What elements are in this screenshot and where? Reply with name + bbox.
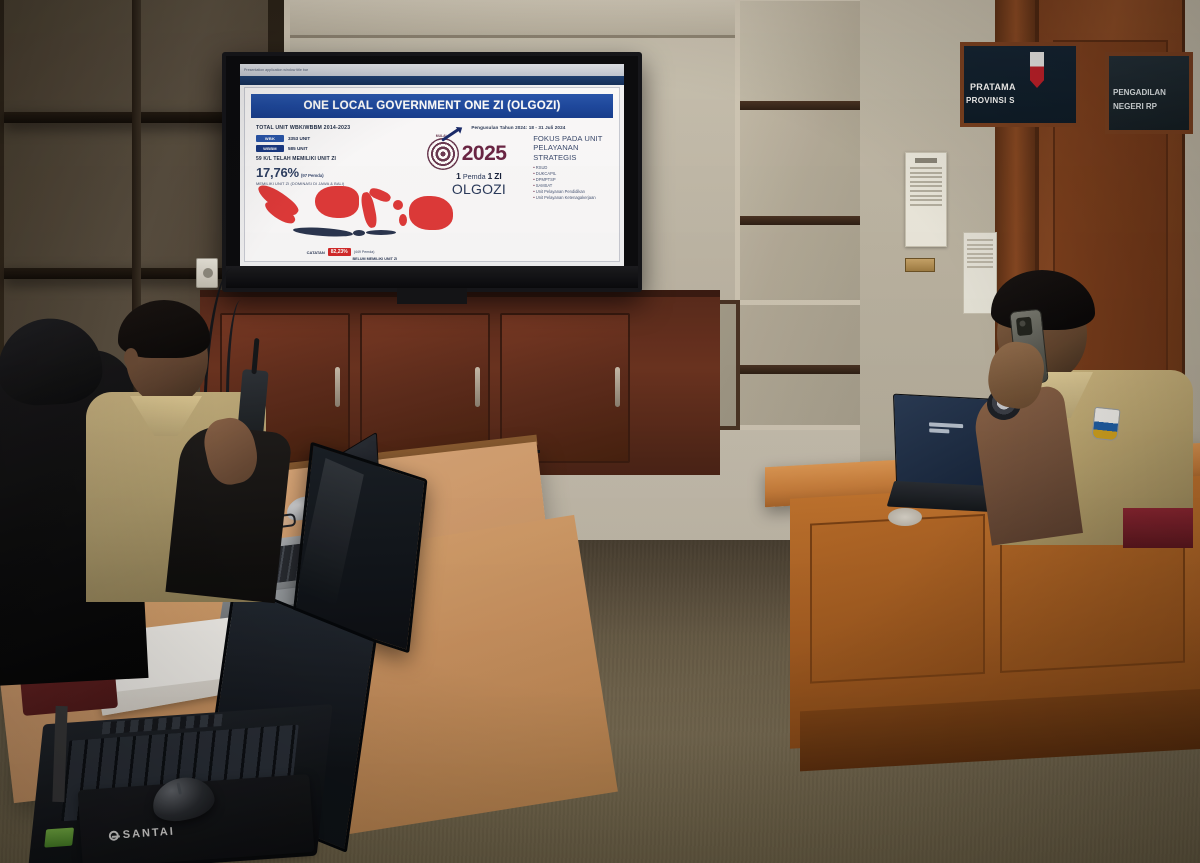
banner-line-1: PRATAMA [970, 82, 1016, 92]
focus-block: FOKUS PADA UNIT PELAYANAN STRATEGIS RSUD… [531, 134, 610, 202]
focus-list: RSUD DUKCAPIL DPMPTSP SAMSAT Unit Pelaya… [533, 165, 610, 202]
tagline-one-pemda-one-zi: 1 Pemda 1 ZI [427, 171, 531, 181]
notice-header-bar [915, 158, 937, 163]
slide-right-main: MULAI 2025 1 Pemda [427, 134, 610, 202]
person-right-phone [975, 272, 1190, 542]
laptop-lid-sticker [929, 420, 964, 438]
cabinet-handle[interactable] [615, 367, 620, 407]
cabinet-handle[interactable] [335, 367, 340, 407]
laptop-brand-sticker [44, 827, 74, 847]
map-island-maluku-2 [399, 214, 407, 226]
notice-text-line [910, 181, 942, 183]
desk-front-panel-section [810, 514, 985, 684]
map-island-kalimantan [315, 186, 359, 218]
footnote-tail: (449 Pemda) [354, 250, 375, 254]
footnote-sub: BELUM MEMILIKI UNIT ZI [352, 257, 397, 261]
legend-chip-wbk: WBK [256, 135, 284, 142]
glass-window-text-1: PENGADILAN [1113, 88, 1166, 97]
tv-mount [397, 288, 467, 304]
notice-text-line [967, 253, 993, 255]
map-island-nusa-tenggara [366, 230, 396, 235]
glass-window-text-2: NEGERI RP [1113, 102, 1157, 111]
cabinet-handle[interactable] [475, 367, 480, 407]
person-ear [124, 348, 138, 368]
mousepad-brand-text: SANTAI [122, 826, 175, 842]
slide-footnote: CATATAN 82,23% (449 Pemda) BELUM MEMILIK… [307, 248, 422, 256]
person-left-radio [78, 300, 288, 600]
slide-left-column: TOTAL UNIT WBK/WBBM 2014-2023 WBK 3353 U… [251, 120, 425, 257]
glass-window-right: PENGADILAN NEGERI RP [1105, 52, 1193, 134]
notice-text-line [910, 185, 942, 187]
tv-bezel-bottom [226, 266, 638, 288]
notice-text-line [910, 172, 942, 174]
phone-camera-icon [1016, 317, 1033, 336]
notice-text-line [910, 204, 942, 206]
tv-screen[interactable]: Presentation application window title ba… [240, 64, 624, 266]
legend-chip-wbbm: WBBM [256, 145, 284, 152]
person-undershirt [1123, 508, 1193, 548]
desk-coaster [888, 508, 922, 526]
dartboard-target-icon [427, 138, 459, 170]
slide-title: ONE LOCAL GOVERNMENT ONE ZI (OLGOZI) [251, 94, 613, 118]
total-unit-heading: TOTAL UNIT WBK/WBBM 2014-2023 [256, 125, 423, 131]
tagline-num: 1 [488, 171, 493, 181]
app-titlebar-text: Presentation application window title ba… [244, 68, 308, 72]
legend-value-wbk: 3353 UNIT [288, 136, 310, 141]
presentation-app-ribbon [240, 76, 624, 85]
presentation-app-titlebar: Presentation application window title ba… [240, 64, 624, 76]
map-island-bali [353, 230, 365, 236]
glass-window-left: PRATAMA PROVINSI S [960, 42, 1080, 127]
mousepad-logo: SANTAI [108, 826, 175, 843]
tagline-prefix: 1 [456, 171, 461, 181]
map-island-maluku [393, 200, 403, 210]
legend-row-wbk: WBK 3353 UNIT [256, 135, 423, 142]
banner-line-2: PROVINSI S [966, 96, 1015, 105]
notice-text-line [967, 248, 993, 250]
notice-text-line [910, 199, 942, 201]
kl-subheading: 59 K/L TELAH MEMILIKI UNIT ZI [256, 156, 423, 162]
footnote-percent: 82,23% [328, 248, 351, 256]
notice-text-line [910, 195, 942, 197]
sticker-line [929, 428, 950, 433]
notice-text-line [910, 167, 942, 169]
notice-text-line [967, 261, 993, 263]
sticker-line [929, 422, 963, 428]
cabinet-door[interactable] [360, 313, 490, 463]
legend-value-wbbm: 585 UNIT [288, 146, 308, 151]
notice-text-line [910, 190, 942, 192]
focus-heading: FOKUS PADA UNIT PELAYANAN STRATEGIS [533, 134, 610, 162]
notice-text-line [910, 176, 942, 178]
slide-body: TOTAL UNIT WBK/WBBM 2014-2023 WBK 3353 U… [251, 120, 613, 257]
target-year: 2025 [462, 145, 507, 164]
tagline-mid: Pemda [463, 172, 486, 181]
target-block: MULAI 2025 1 Pemda [427, 134, 531, 202]
focus-item: Unit Pelayanan Ketenagakerjaan [533, 195, 610, 201]
screen-glare [297, 458, 364, 609]
office-room-photo: Presentation application window title ba… [0, 0, 1200, 863]
target-year-row: 2025 [427, 138, 531, 170]
brand-mark-icon [108, 830, 119, 841]
wall-power-outlet[interactable] [196, 258, 218, 288]
wall-name-plate [905, 258, 935, 272]
presentation-slide: ONE LOCAL GOVERNMENT ONE ZI (OLGOZI) TOT… [244, 87, 620, 262]
slide-right-column: Pengusulan Tahun 2024: 18 - 31 Juli 2024… [425, 120, 613, 257]
person-hair [991, 270, 1095, 330]
notice-text-line [967, 257, 993, 259]
wall-notice-paper [905, 152, 947, 247]
notice-text-line [967, 266, 993, 268]
notice-text-line [967, 239, 993, 241]
indonesia-map [253, 172, 425, 243]
shelf-board [740, 101, 860, 110]
map-island-java [293, 226, 353, 238]
uniform-shoulder-patch [1091, 407, 1120, 442]
shelf-board [740, 216, 860, 225]
program-name: OLGOZI [427, 181, 531, 197]
ribbon-graphic [1030, 52, 1044, 88]
wall-mounted-tv[interactable]: Presentation application window title ba… [222, 52, 642, 292]
legend-row-wbbm: WBBM 585 UNIT [256, 145, 423, 152]
notice-text-line [967, 244, 993, 246]
ceiling-soffit [290, 0, 760, 38]
tagline-suffix: ZI [494, 171, 501, 181]
banner-behind-glass: PRATAMA PROVINSI S [964, 46, 1076, 123]
footnote-label: CATATAN [307, 250, 325, 255]
radio-antenna [251, 338, 259, 374]
